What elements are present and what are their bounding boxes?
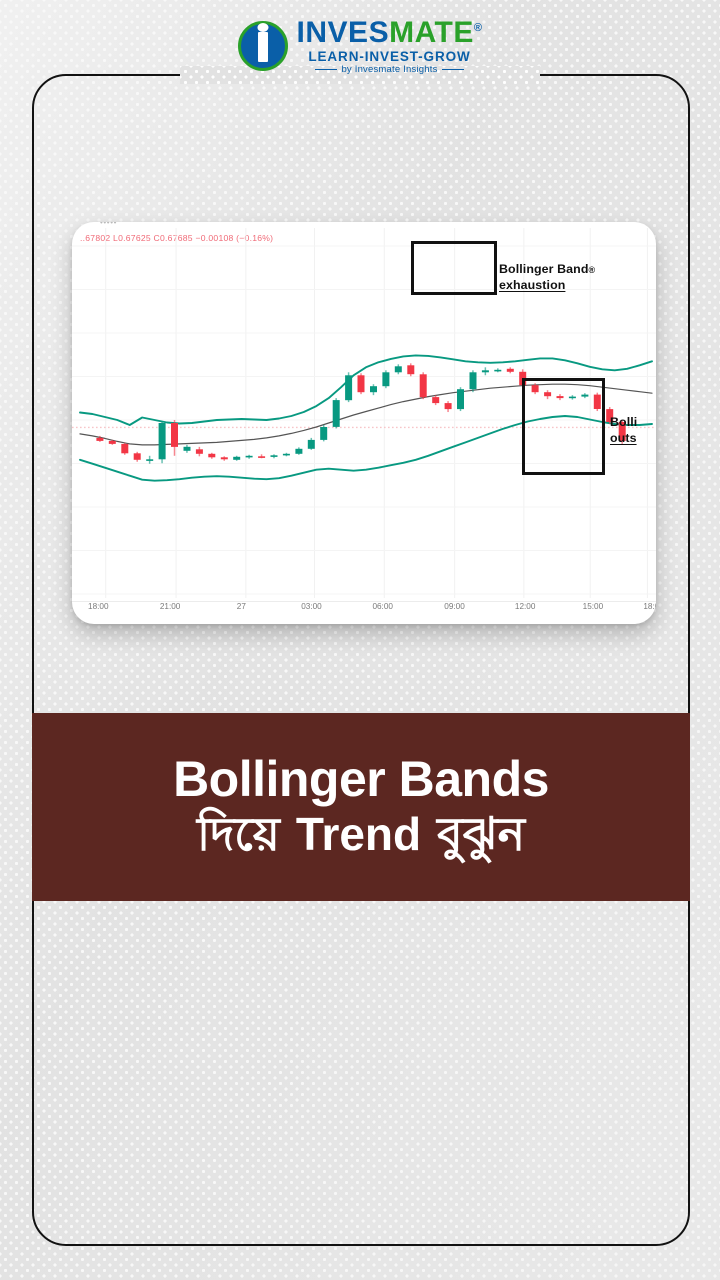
brand-byline: by Invesmate Insights [341, 64, 437, 75]
brand-logo-text: INVESMATE® LEARN-INVEST-GROW by Invesmat… [297, 18, 483, 75]
registered-mark: ® [474, 22, 483, 34]
registered-mark-icon: ® [589, 265, 596, 275]
title-banner: Bollinger Bands দিয়ে Trend বুঝুন [32, 713, 690, 901]
annotation-label-line1: Bollinger Band® [499, 262, 595, 278]
x-tick-3: 03:00 [301, 602, 322, 611]
x-tick-4: 06:00 [372, 602, 393, 611]
chart-card: ••••• ..67802 L0.67625 C0.67685 −0.00108… [72, 222, 656, 624]
brand-byline-wrap: by Invesmate Insights [297, 65, 483, 75]
annotation-label-line2: outs [610, 431, 637, 447]
banner-line2-post: বুঝুন [421, 807, 525, 861]
brand-name-part1: INVES [297, 16, 390, 49]
annotation-label-line1: Bolli [610, 415, 637, 431]
banner-line-1: Bollinger Bands [173, 753, 549, 806]
x-tick-8: 18:0 [643, 602, 656, 611]
page-background-gradient [0, 0, 720, 1280]
banner-line-2: দিয়ে Trend বুঝুন [197, 808, 525, 861]
annotation-label-bollinger-band-breakout: Bolliouts [610, 415, 637, 447]
x-axis-ticks: 18:0021:002703:0006:0009:0012:0015:0018:… [72, 602, 656, 618]
annotation-label-line2: exhaustion [499, 278, 595, 294]
brand-logo: INVESMATE® LEARN-INVEST-GROW by Invesmat… [0, 18, 720, 74]
banner-line2-latin: Trend [296, 808, 421, 860]
brand-tagline: LEARN-INVEST-GROW [297, 50, 483, 64]
annotation-box-bollinger-band-exhaustion [411, 241, 497, 295]
byline-rule-left [315, 69, 337, 70]
x-tick-5: 09:00 [444, 602, 465, 611]
x-tick-1: 21:00 [160, 602, 181, 611]
byline-rule-right [442, 69, 464, 70]
banner-line2-pre: দিয়ে [197, 807, 296, 861]
x-tick-7: 15:00 [583, 602, 604, 611]
brand-name-part2: MATE [389, 16, 474, 49]
invesmate-logo-icon [238, 21, 288, 71]
annotation-box-bollinger-band-breakout [522, 378, 605, 475]
x-tick-0: 18:00 [88, 602, 109, 611]
x-tick-6: 12:00 [515, 602, 536, 611]
annotation-label-bollinger-band-exhaustion: Bollinger Band®exhaustion [499, 262, 595, 294]
brand-name: INVESMATE® [297, 18, 483, 48]
chart-inner: ••••• ..67802 L0.67625 C0.67685 −0.00108… [72, 222, 656, 624]
x-tick-2: 27 [237, 602, 246, 611]
